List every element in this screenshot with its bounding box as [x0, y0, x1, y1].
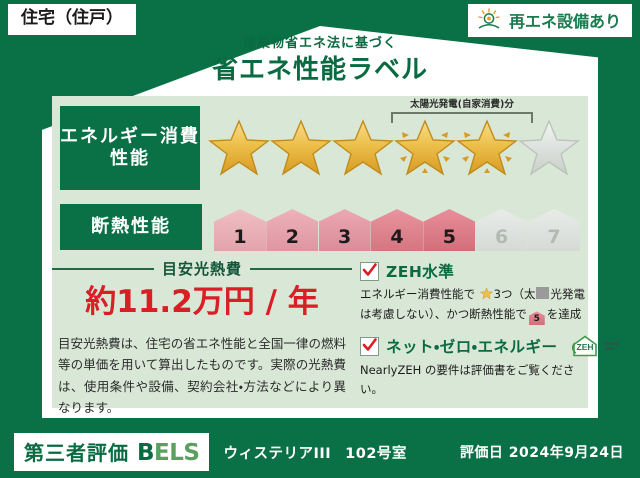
star-filled-3: [332, 118, 394, 178]
star-filled-4-solar: [394, 118, 456, 178]
solar-generation-annotation: 太陽光発電(自家消費)分: [382, 100, 542, 123]
zeh-level-description: エネルギー消費性能で 3つ（太光発電は考慮しない）、かつ断熱性能で5を達成: [360, 285, 590, 325]
insulation-grade-2: 2: [266, 209, 318, 251]
third-party-evaluation-label: 第三者評価: [24, 437, 129, 466]
renewable-equipment-badge: 再エネ設備あり: [468, 4, 632, 37]
energy-performance-label: 住宅（住戸） 再エネ設備あり 建築物省エネ法に基づく 省エネ性能ラベル: [0, 0, 640, 478]
sun-solar-icon: [476, 8, 502, 32]
building-name: ウィステリアIII: [223, 442, 331, 463]
insulation-grade-5: 5: [423, 209, 475, 251]
evaluation-date: 評価日 2024年9月24日: [460, 442, 624, 462]
bels-certification-chip: 第三者評価 BELS: [14, 433, 209, 471]
label-footer: 第三者評価 BELS ウィステリアIII 102号室 評価日 2024年9月24…: [0, 426, 640, 478]
insulation-performance-row: 断熱性能 1 2 3 4 5 6 7: [60, 202, 580, 252]
zeh-desc-part-1: エネルギー消費性能で: [360, 287, 475, 301]
star-empty-6: [518, 118, 580, 178]
star-filled-2: [270, 118, 332, 178]
star-filled-5-solar: [456, 118, 518, 178]
insulation-label: 断熱性能: [60, 204, 202, 250]
bels-letters-els: ELS: [154, 440, 199, 466]
insulation-grade-scale: 1 2 3 4 5 6 7: [202, 203, 580, 251]
utility-cost-heading: 目安光熱費: [52, 258, 352, 279]
utility-cost-value: 約11.2万円 / 年: [52, 285, 352, 321]
zeh-level-heading: ZEH水準: [360, 260, 590, 282]
heading-rule-left: [52, 268, 154, 270]
heading-rule-right: [250, 268, 352, 270]
svg-text:ZEH: ZEH: [605, 346, 614, 351]
net-zero-heading: ネット・ゼロ・エネルギー ZEH Nearly ZEH: [360, 334, 590, 358]
inline-star-icon: [476, 289, 493, 303]
criteria-item-zeh-level: ZEH水準 エネルギー消費性能で 3つ（太光発電は考慮しない）、かつ断熱性能で5…: [360, 260, 590, 325]
bels-letter-b: B: [137, 440, 154, 466]
energy-consumption-label: エネルギー消費性能: [60, 106, 200, 190]
net-zero-checkbox[interactable]: [360, 337, 379, 356]
svg-text:ZEH: ZEH: [576, 342, 593, 352]
star-filled-1: [208, 118, 270, 178]
insulation-grade-3: 3: [319, 209, 371, 251]
room-number: 102号室: [345, 442, 407, 463]
insulation-grade-4: 4: [371, 209, 423, 251]
net-zero-title: ネット・ゼロ・エネルギー: [386, 335, 558, 357]
insulation-grade-7: 7: [528, 209, 580, 251]
redacted-character: [536, 287, 549, 299]
zeh-desc-part-2: 3つ（太: [494, 287, 536, 301]
net-zero-description: NearlyZEH の要件は評価書をご覧ください。: [360, 361, 590, 398]
zeh-level-checkbox[interactable]: [360, 262, 379, 281]
renewable-badge-label: 再エネ設備あり: [509, 8, 621, 32]
insulation-label-text: 断熱性能: [91, 216, 171, 239]
solar-annotation-text: 太陽光発電(自家消費)分: [382, 100, 542, 110]
bels-wordmark: BELS: [137, 440, 199, 466]
solar-bracket: [391, 112, 533, 123]
energy-label-text: エネルギー消費性能: [60, 126, 200, 171]
utility-cost-block: 目安光熱費 約11.2万円 / 年 目安光熱費は、住宅の省エネ性能と全国一律の燃…: [52, 258, 352, 419]
house-type-chip: 住宅（住戸）: [8, 4, 136, 35]
insulation-grade-6: 6: [476, 209, 528, 251]
utility-cost-description: 目安光熱費は、住宅の省エネ性能と全国一律の燃料等の単価を用いて算出したものです。…: [52, 333, 352, 419]
utility-cost-heading-text: 目安光熱費: [162, 258, 242, 279]
criteria-block: ZEH水準 エネルギー消費性能で 3つ（太光発電は考慮しない）、かつ断熱性能で5…: [360, 260, 590, 407]
criteria-item-net-zero-energy: ネット・ゼロ・エネルギー ZEH Nearly ZEH NearlyZEH の要…: [360, 334, 590, 398]
zeh-level-title: ZEH水準: [386, 260, 454, 282]
zeh-nearly-logo-icon: ZEH Nearly ZEH: [569, 334, 621, 358]
inline-grade-badge: 5: [529, 311, 545, 325]
insulation-grade-1: 1: [214, 209, 266, 251]
zeh-desc-part-4: を達成: [547, 307, 582, 321]
